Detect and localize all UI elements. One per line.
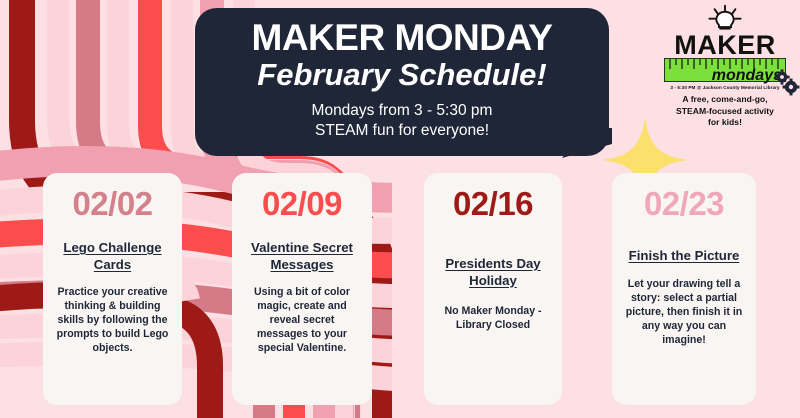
card-date: 02/02 <box>72 187 152 220</box>
logo-tagline: A free, come-and-go, STEAM-focused activ… <box>655 94 795 128</box>
card-date: 02/16 <box>453 187 533 220</box>
logo-tagline-line-2: STEAM-focused activity <box>655 106 795 117</box>
card-date: 02/23 <box>644 187 724 220</box>
event-card: 02/02 Lego Challenge Cards Practice your… <box>43 173 182 405</box>
hero-time-line: Mondays from 3 - 5:30 pm <box>312 101 493 121</box>
card-description: No Maker Monday - Library Closed <box>435 304 551 332</box>
logo-ruler: mondays <box>664 58 786 82</box>
card-description: Using a bit of color magic, create and r… <box>243 285 361 355</box>
poster-canvas: MAKER MONDAY February Schedule! Mondays … <box>0 0 800 418</box>
hero-title: MAKER MONDAY <box>252 19 553 57</box>
card-title: Finish the Picture <box>629 248 740 265</box>
lightbulb-icon <box>699 4 751 30</box>
logo-maker-text: MAKER <box>655 33 795 57</box>
maker-mondays-logo: MAKER mondays <box>655 4 795 129</box>
hero-banner: MAKER MONDAY February Schedule! Mondays … <box>195 8 609 156</box>
hero-theme-line: STEAM fun for everyone! <box>315 121 489 141</box>
card-title: Presidents Day Holiday <box>435 256 551 289</box>
gears-icon <box>772 68 800 96</box>
card-title: Lego Challenge Cards <box>54 240 171 273</box>
hero-subtitle: February Schedule! <box>257 58 546 93</box>
event-card: 02/23 Finish the Picture Let your drawin… <box>612 173 756 405</box>
card-title: Valentine Secret Messages <box>243 240 361 273</box>
card-date: 02/09 <box>262 187 342 220</box>
card-description: Let your drawing tell a story: select a … <box>623 277 745 347</box>
card-description: Practice your creative thinking & buildi… <box>54 285 171 355</box>
event-card: 02/16 Presidents Day Holiday No Maker Mo… <box>424 173 562 405</box>
logo-tagline-line-3: for kids! <box>655 117 795 128</box>
event-card: 02/09 Valentine Secret Messages Using a … <box>232 173 372 405</box>
